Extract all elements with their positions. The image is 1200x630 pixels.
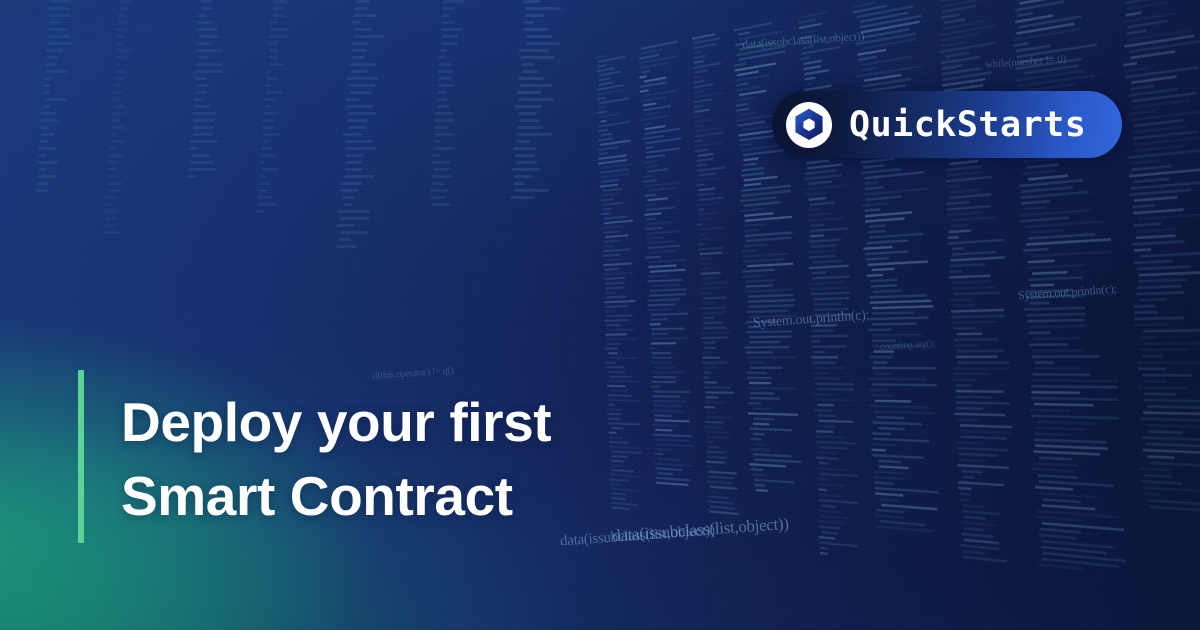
quickstarts-badge-label: QuickStarts [849, 105, 1086, 145]
page-title: Deploy your first Smart Contract [121, 385, 741, 533]
quickstarts-badge[interactable]: QuickStarts [772, 91, 1122, 158]
banner-canvas: data(issubclass(list,object)) System.out… [0, 0, 1200, 630]
page-title-line-1: Deploy your first [121, 385, 741, 459]
chainlink-hexagon-icon [786, 102, 832, 148]
page-title-line-2: Smart Contract [121, 459, 741, 533]
headline-accent-bar [78, 370, 84, 543]
